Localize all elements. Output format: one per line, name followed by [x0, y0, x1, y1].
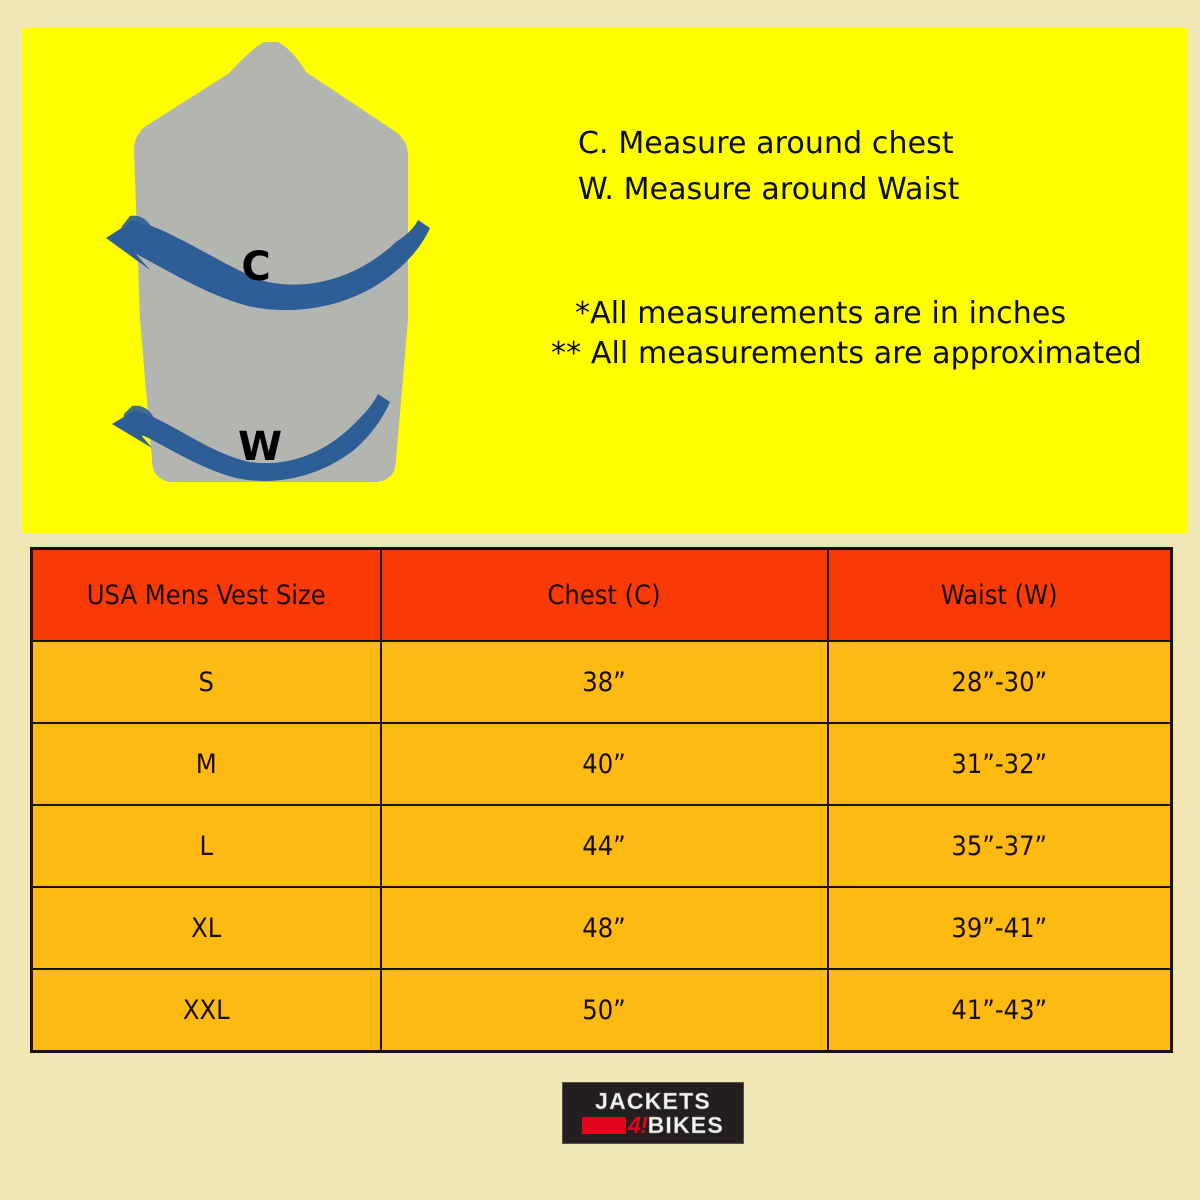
instruction-waist: W. Measure around Waist [578, 172, 960, 207]
table-header: USA Mens Vest Size Chest (C) Waist (W) [32, 549, 1172, 642]
table-header-row: USA Mens Vest Size Chest (C) Waist (W) [32, 549, 1172, 642]
brand-logo: JACKETS 4! BIKES [562, 1082, 744, 1144]
measurement-diagram: C W [78, 20, 448, 500]
cell-waist: 41”-43” [828, 969, 1172, 1052]
logo-red-bar [582, 1117, 626, 1134]
table-body: S 38” 28”-30” M 40” 31”-32” L 44” 35”-37… [32, 641, 1172, 1052]
cell-waist: 39”-41” [828, 887, 1172, 969]
cell-waist: 28”-30” [828, 641, 1172, 723]
cell-waist: 35”-37” [828, 805, 1172, 887]
column-header-size: USA Mens Vest Size [32, 549, 381, 642]
cell-chest: 40” [381, 723, 828, 805]
logo-second-line: 4! BIKES [582, 1114, 724, 1137]
size-chart-table: USA Mens Vest Size Chest (C) Waist (W) S… [30, 547, 1173, 1053]
cell-size: XL [32, 887, 381, 969]
waist-label: W [238, 424, 282, 470]
logo-four-text: 4! [628, 1114, 647, 1137]
size-chart-table-wrapper: USA Mens Vest Size Chest (C) Waist (W) S… [30, 547, 1170, 1047]
cell-chest: 38” [381, 641, 828, 723]
table-row: XL 48” 39”-41” [32, 887, 1172, 969]
table-row: S 38” 28”-30” [32, 641, 1172, 723]
logo-bikes-text: BIKES [648, 1114, 724, 1137]
chest-label: C [241, 244, 270, 290]
table-row: XXL 50” 41”-43” [32, 969, 1172, 1052]
cell-size: M [32, 723, 381, 805]
cell-chest: 50” [381, 969, 828, 1052]
instruction-chest: C. Measure around chest [578, 126, 954, 161]
cell-size: XXL [32, 969, 381, 1052]
cell-chest: 44” [381, 805, 828, 887]
cell-size: L [32, 805, 381, 887]
cell-chest: 48” [381, 887, 828, 969]
cell-waist: 31”-32” [828, 723, 1172, 805]
cell-size: S [32, 641, 381, 723]
note-approximated: ** All measurements are approximated [551, 336, 1142, 371]
torso-diagram-svg: C W [78, 20, 448, 500]
table-row: L 44” 35”-37” [32, 805, 1172, 887]
column-header-waist: Waist (W) [828, 549, 1172, 642]
note-inches: *All measurements are in inches [575, 296, 1066, 331]
logo-jackets-text: JACKETS [595, 1090, 711, 1113]
table-row: M 40” 31”-32” [32, 723, 1172, 805]
column-header-chest: Chest (C) [381, 549, 828, 642]
